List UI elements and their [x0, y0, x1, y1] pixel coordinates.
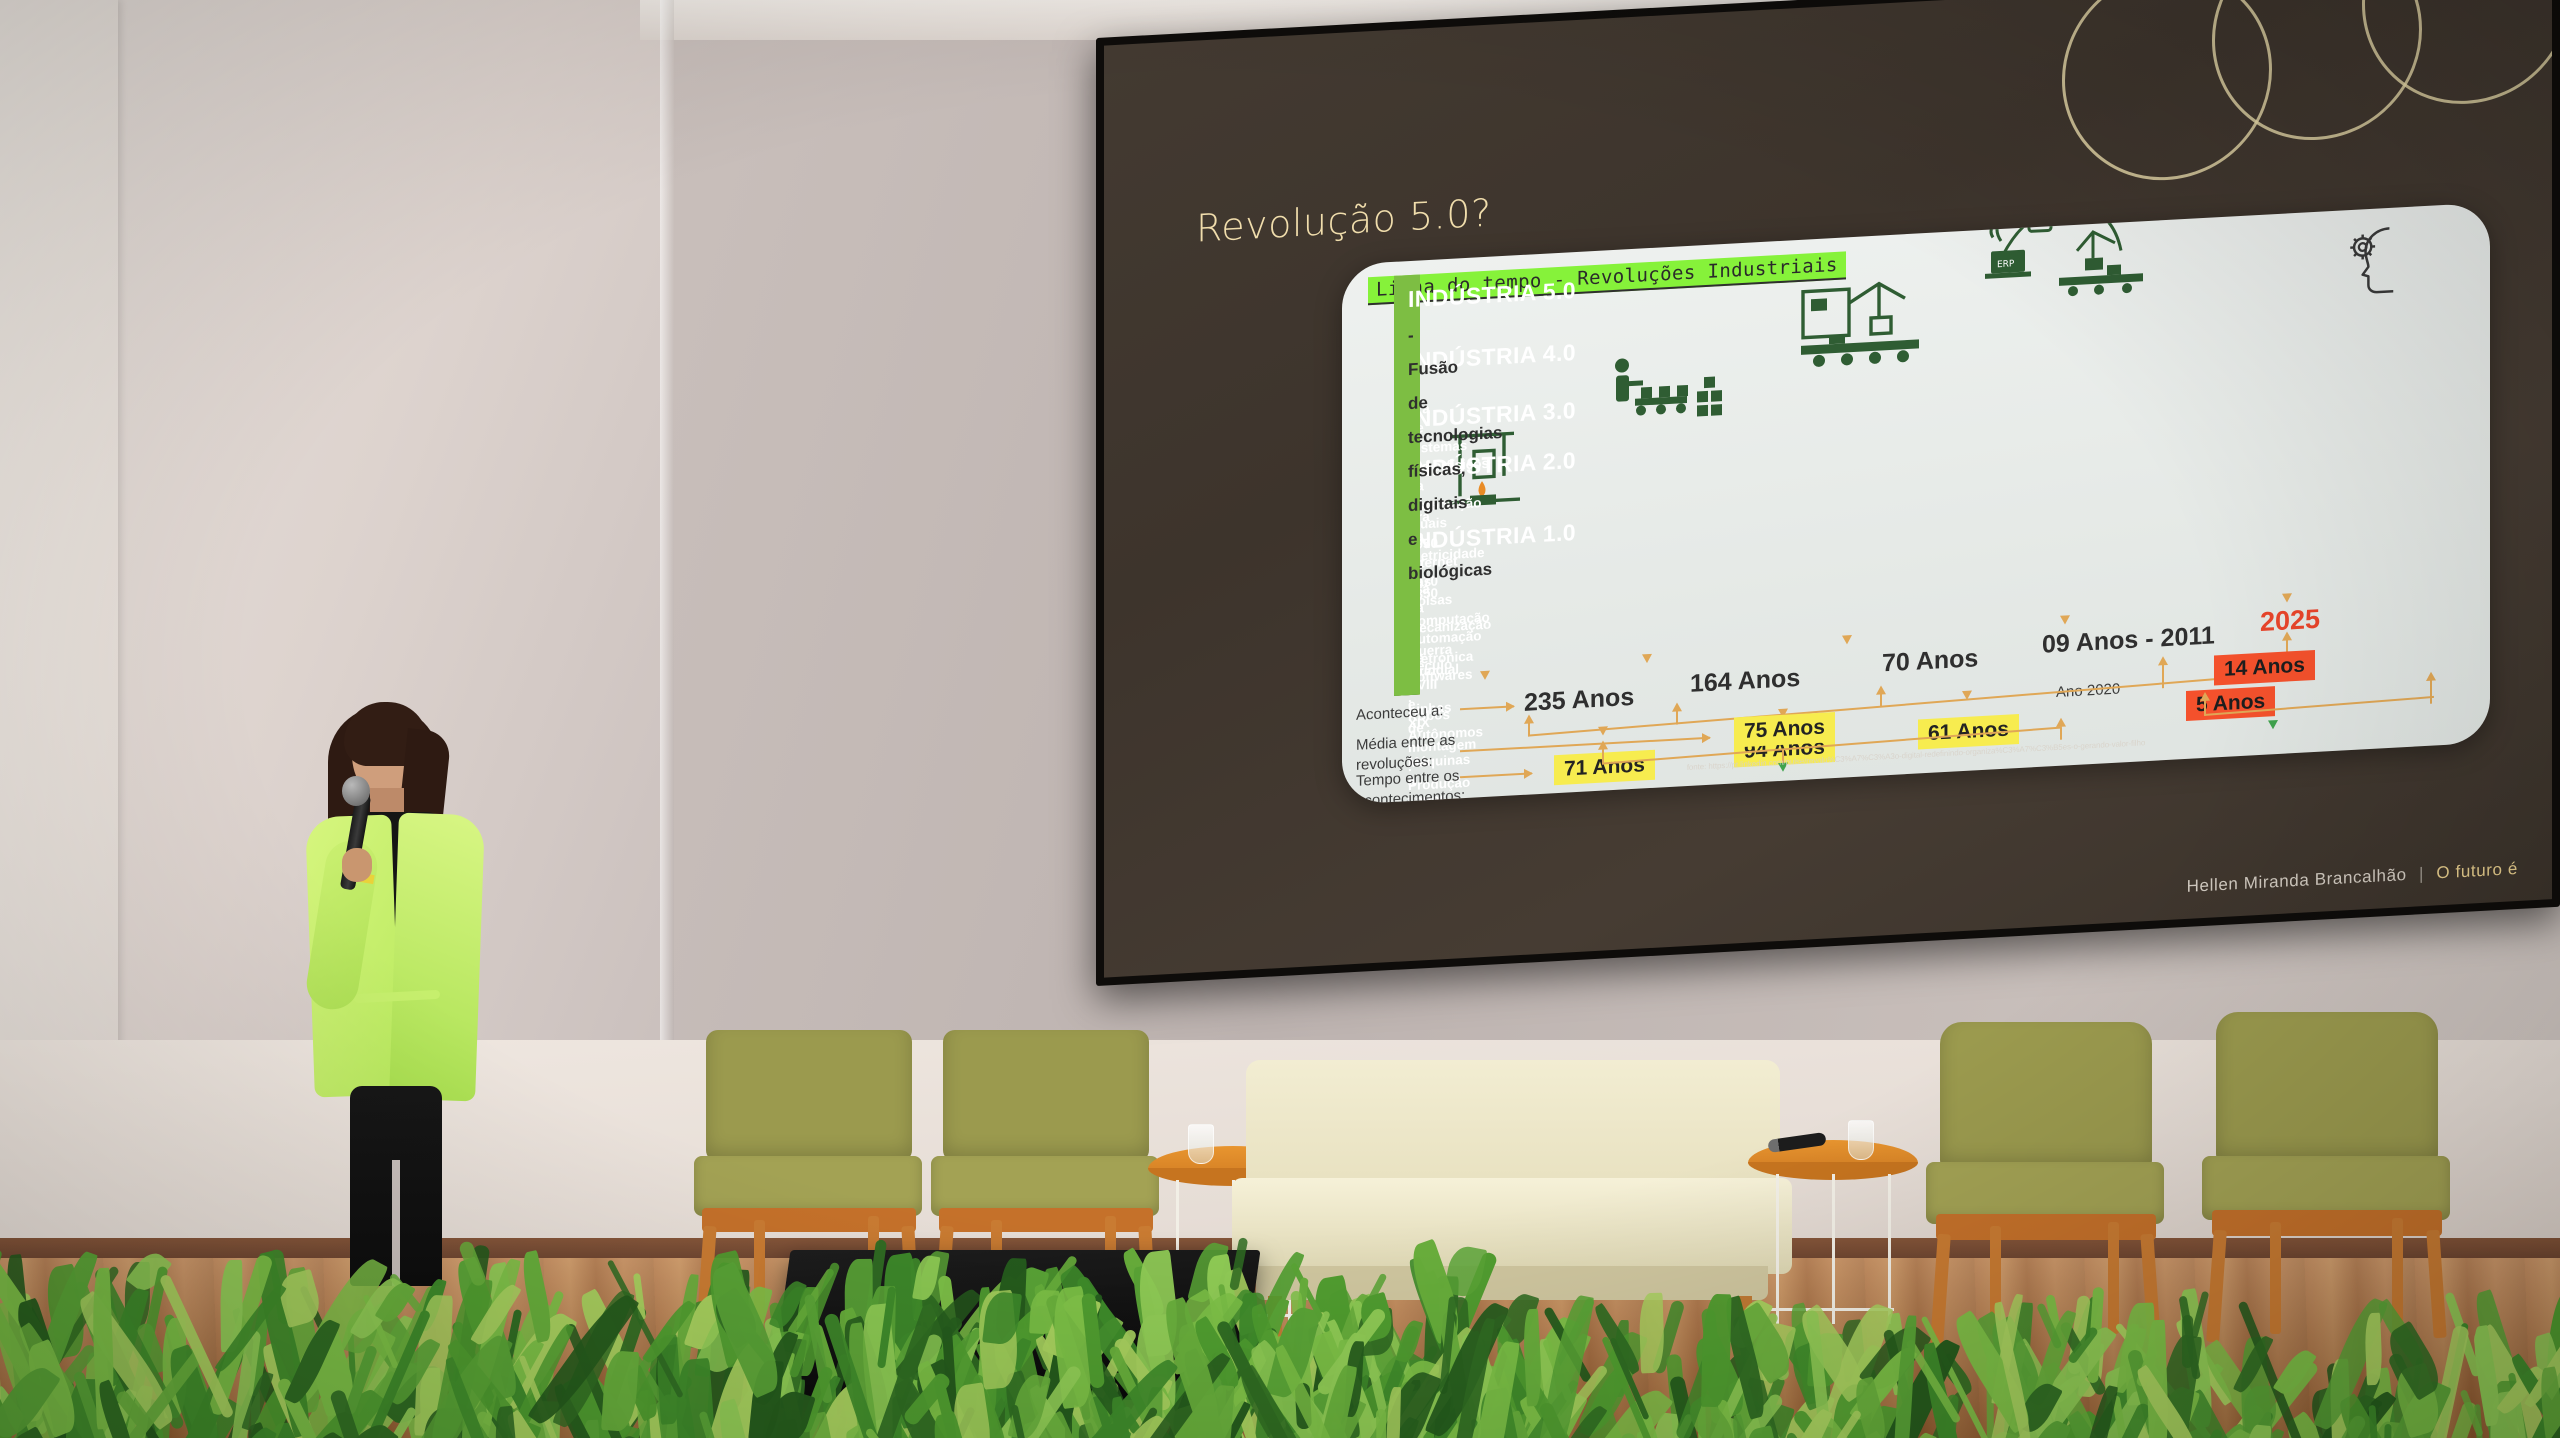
- chair-back: [943, 1030, 1149, 1162]
- connector-arrow-down: [1598, 726, 1608, 736]
- chair-seat: [931, 1156, 1159, 1216]
- microphone-head-icon: [342, 776, 370, 806]
- connector-arrow-up: [1876, 685, 1886, 695]
- connector-arrow-down-avg: [2268, 720, 2278, 730]
- connector-tick: [2204, 700, 2206, 716]
- between-chip: 71 Anos: [1554, 750, 1655, 785]
- screen-surface: Revolução 5.0? Linha do tempo - Revoluçõ…: [1104, 0, 2552, 978]
- scene-root: Revolução 5.0? Linha do tempo - Revoluçõ…: [0, 0, 2560, 1438]
- happened-value: 235 Anos: [1524, 683, 1634, 718]
- connector-arrow-down: [1962, 691, 1972, 701]
- footer-separator: |: [2419, 864, 2424, 883]
- connector-tick: [2430, 680, 2432, 704]
- hand: [342, 848, 372, 882]
- speaker-presenter: [300, 690, 520, 1290]
- chair-apron: [1936, 1214, 2156, 1240]
- connector-arrow-up: [1524, 714, 1534, 724]
- chair-back: [1940, 1022, 2152, 1170]
- connector-arrow-up: [2282, 631, 2292, 641]
- connector-arrow-up: [2158, 656, 2168, 666]
- overlapping-circles-icon: [2062, 0, 2552, 234]
- connector-tick: [1676, 710, 1678, 724]
- slide-footer: Hellen Miranda Brancalhão | O futuro é: [2187, 859, 2518, 897]
- plant-leaf: [1376, 1409, 1387, 1438]
- slide-title: Revolução 5.0?: [1196, 191, 1492, 251]
- connector-line-top: [1528, 672, 2288, 736]
- bar-down-arrow: [1480, 671, 1490, 681]
- connector-tick: [2060, 728, 2062, 740]
- chair-back: [2216, 1012, 2438, 1164]
- connector-arrow-up: [2056, 717, 2066, 727]
- assembly-line-worker-icon: [1605, 350, 1725, 434]
- connector-tick: [1528, 722, 1530, 736]
- bar-industria-5: INDÚSTRIA 5.0 - Fusão de tecnologias fís…: [1394, 274, 1420, 695]
- connector-tick: [1602, 748, 1604, 764]
- average-chip: 75 Anos: [1734, 712, 1835, 747]
- jacket-right-panel: [389, 813, 485, 1102]
- label-aconteceu: Aconteceu a:: [1356, 701, 1444, 725]
- chair-apron: [2212, 1210, 2442, 1236]
- happened-value: 164 Anos: [1690, 664, 1800, 699]
- footer-presenter: Hellen Miranda Brancalhão: [2187, 865, 2407, 896]
- projection-screen: Revolução 5.0? Linha do tempo - Revoluçõ…: [1096, 0, 2560, 1010]
- connector-arrow-up: [1672, 702, 1682, 712]
- arrow-aconteceu: [1460, 705, 1514, 710]
- connector-arrow-up: [2426, 671, 2436, 681]
- bar-down-arrow: [1642, 654, 1652, 664]
- happened-value: 70 Anos: [1882, 644, 1978, 678]
- connector-tick: [2162, 664, 2164, 688]
- chair-back: [706, 1030, 912, 1162]
- chair-seat: [694, 1156, 922, 1216]
- bar-down-arrow: [2060, 615, 2070, 625]
- arrow-tempo-entre: [1460, 772, 1532, 778]
- connector-tick: [1880, 693, 1882, 707]
- bar-down-arrow: [1842, 635, 1852, 645]
- plant-leaf: [1386, 1387, 1401, 1438]
- svg-text:ERP: ERP: [1997, 259, 2015, 270]
- sofa-backrest: [1246, 1060, 1780, 1190]
- label-media-entre: Média entre as revoluções:: [1356, 731, 1455, 775]
- average-chip-alert: 14 Anos: [2214, 650, 2315, 685]
- foreground-plants-right: [860, 1268, 2560, 1438]
- infographic-card: Linha do tempo - Revoluções Industriais: [1342, 203, 2490, 805]
- footer-tagline: O futuro é: [2436, 859, 2518, 882]
- water-glass[interactable]: [1848, 1120, 1874, 1160]
- bar-down-arrow: [2282, 593, 2292, 603]
- water-glass[interactable]: [1188, 1124, 1214, 1164]
- robot-arm-icon: [1795, 275, 1925, 374]
- plant-leaf: [2182, 1315, 2193, 1368]
- connector-arrow-up: [2200, 692, 2210, 702]
